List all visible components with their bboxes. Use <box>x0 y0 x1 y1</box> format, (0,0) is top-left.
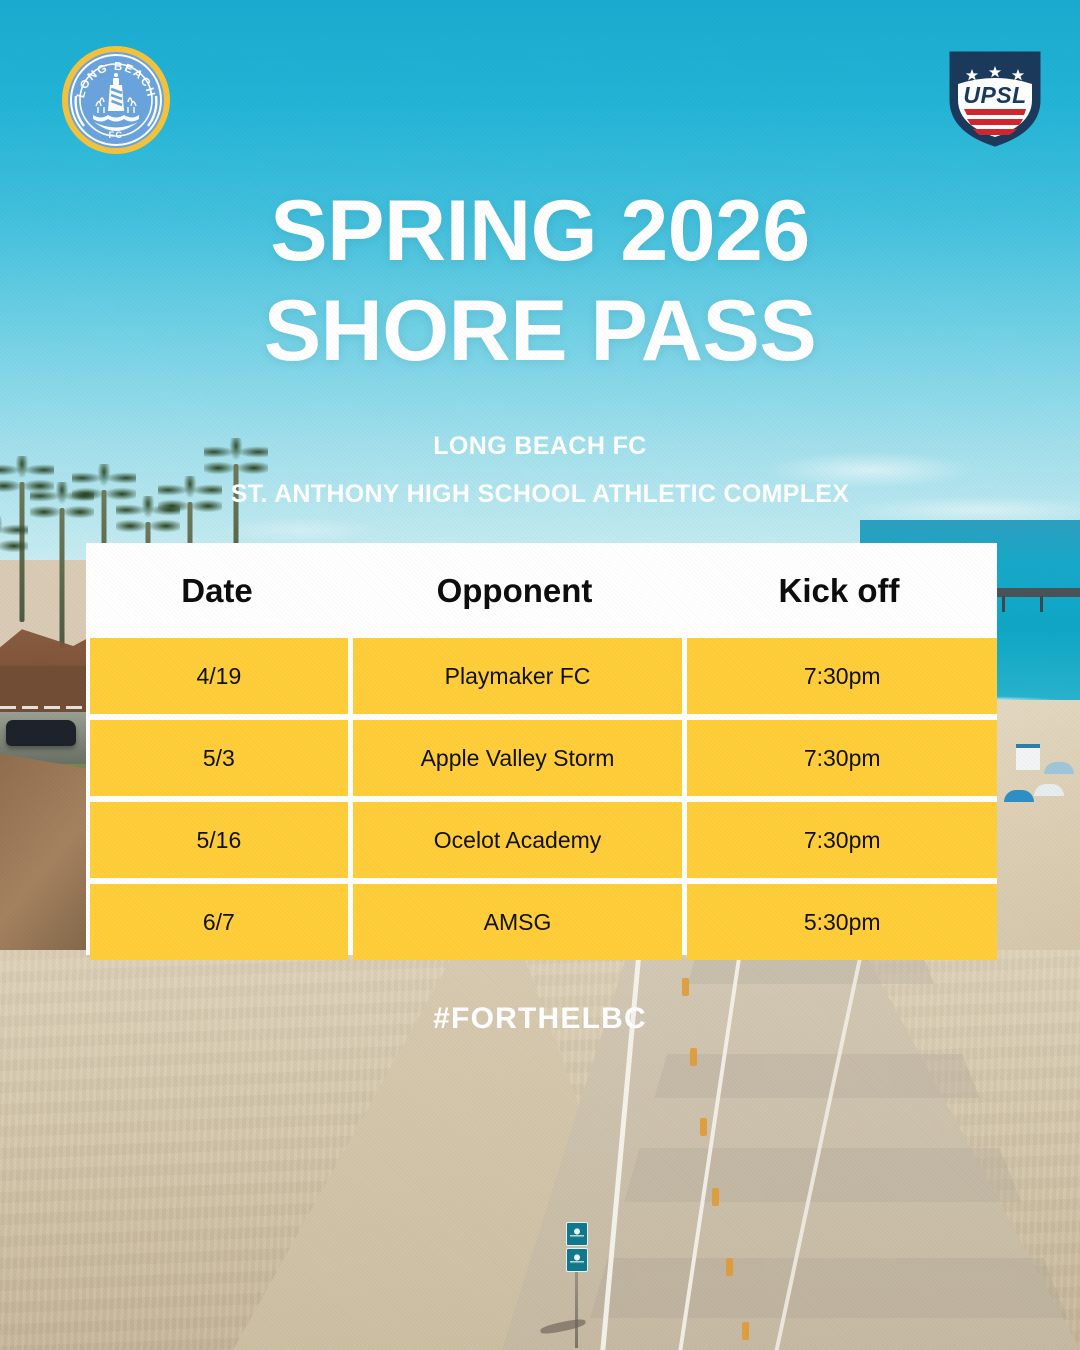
cell-opponent: AMSG <box>353 884 683 960</box>
table-row: 5/16 Ocelot Academy 7:30pm <box>86 802 997 878</box>
crest-sub-text: FC <box>109 130 124 140</box>
long-beach-fc-crest: LONG BEACH FC <box>60 44 172 156</box>
cell-kickoff: 7:30pm <box>687 638 997 714</box>
table-row: 6/7 AMSG 5:30pm <box>86 884 997 960</box>
poster-content: LONG BEACH FC UPSL <box>0 0 1080 1350</box>
page-title: SPRING 2026 SHORE PASS <box>0 182 1080 382</box>
title-line-2: SHORE PASS <box>0 282 1080 382</box>
hashtag: #FORTHELBC <box>0 1002 1080 1036</box>
upsl-shield-logo: UPSL <box>946 44 1044 148</box>
title-line-1: SPRING 2026 <box>0 182 1080 282</box>
upsl-wordmark: UPSL <box>963 82 1026 108</box>
column-header-date: Date <box>86 572 348 610</box>
schedule-poster: LONG BEACH FC UPSL <box>0 0 1080 1350</box>
cell-opponent: Apple Valley Storm <box>353 720 683 796</box>
table-row: 5/3 Apple Valley Storm 7:30pm <box>86 720 997 796</box>
cell-date: 5/3 <box>90 720 348 796</box>
table-row: 4/19 Playmaker FC 7:30pm <box>86 638 997 714</box>
table-header-row: Date Opponent Kick off <box>86 543 997 638</box>
cell-opponent: Ocelot Academy <box>353 802 683 878</box>
cell-kickoff: 7:30pm <box>687 720 997 796</box>
cell-date: 4/19 <box>90 638 348 714</box>
cell-opponent: Playmaker FC <box>353 638 683 714</box>
cell-date: 6/7 <box>90 884 348 960</box>
column-header-kickoff: Kick off <box>681 572 997 610</box>
column-header-opponent: Opponent <box>348 572 681 610</box>
schedule-table: Date Opponent Kick off 4/19 Playmaker FC… <box>86 543 997 955</box>
cell-kickoff: 7:30pm <box>687 802 997 878</box>
cell-kickoff: 5:30pm <box>687 884 997 960</box>
venue-name: ST. ANTHONY HIGH SCHOOL ATHLETIC COMPLEX <box>0 480 1080 509</box>
team-name: LONG BEACH FC <box>0 432 1080 461</box>
cell-date: 5/16 <box>90 802 348 878</box>
